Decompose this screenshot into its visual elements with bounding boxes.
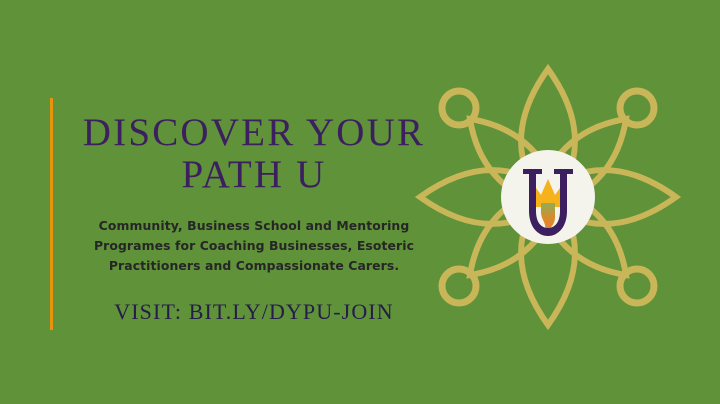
ring-southeast xyxy=(620,269,654,303)
ring-northeast xyxy=(620,91,654,125)
path-u-mandala-logo xyxy=(408,57,688,337)
subtitle-description: Community, Business School and Mentoring… xyxy=(74,216,434,276)
vertical-accent-rule xyxy=(50,98,53,330)
mandala-graphic xyxy=(408,57,688,337)
text-block: DISCOVER YOUR PATH U Community, Business… xyxy=(66,112,442,325)
visit-link-text[interactable]: VISIT: BIT.LY/DYPU-JOIN xyxy=(66,299,442,325)
ring-southwest xyxy=(442,269,476,303)
page-title: DISCOVER YOUR PATH U xyxy=(66,112,442,196)
promo-slide: DISCOVER YOUR PATH U Community, Business… xyxy=(0,0,720,404)
ring-northwest xyxy=(442,91,476,125)
